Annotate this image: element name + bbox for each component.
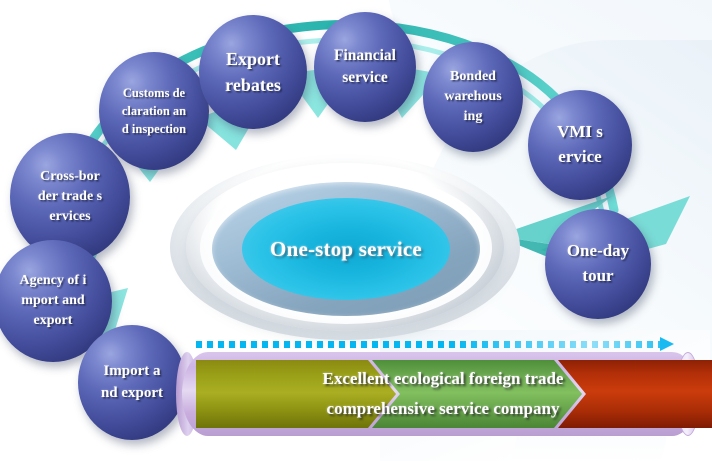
node-label-line: Financial	[334, 45, 396, 67]
node-label-line: service	[342, 67, 388, 89]
node-label-line: Cross-bor	[40, 167, 100, 187]
node-bonded-warehousing[interactable]: Bonded warehous ing	[423, 42, 523, 152]
olive-chevron	[196, 360, 396, 428]
green-chevron	[372, 360, 582, 428]
node-label-line: claration an	[122, 102, 186, 120]
banner-chevrons	[196, 360, 690, 428]
node-financial-service[interactable]: Financial service	[314, 12, 416, 122]
node-label-line: VMI s	[557, 120, 603, 145]
node-label-line: Bonded	[450, 67, 496, 87]
diagram-canvas: One-stop service Cross-bor der trade s e…	[0, 0, 712, 461]
node-label-line: Import a	[103, 361, 160, 383]
node-label-line: mport and	[21, 291, 84, 311]
node-label-line: rebates	[225, 72, 281, 98]
node-label-line: warehous	[444, 87, 501, 107]
node-label-line: Agency of i	[20, 271, 87, 291]
node-label-line: ervice	[558, 145, 601, 170]
node-label-line: tour	[582, 264, 613, 289]
node-export-rebates[interactable]: Export rebates	[199, 15, 307, 129]
node-label-line: Export	[226, 46, 280, 72]
node-label-line: ervices	[49, 207, 90, 227]
dotted-progress-arrow-fade	[196, 341, 664, 348]
node-label-line: One-day	[567, 239, 629, 264]
center-label: One-stop service	[242, 198, 450, 300]
node-vmi-service[interactable]: VMI s ervice	[528, 90, 632, 200]
node-import-and-export[interactable]: Import a nd export	[78, 325, 186, 440]
node-label-line: d inspection	[122, 120, 186, 138]
node-label-line: Customs de	[123, 84, 185, 102]
node-label-line: nd export	[101, 383, 163, 405]
progress-arrow-head-icon	[660, 337, 674, 351]
node-label-line: export	[34, 311, 73, 331]
node-label-line: ing	[464, 107, 483, 127]
node-one-day-tour[interactable]: One-day tour	[545, 209, 651, 319]
node-customs-declaration-and-inspection[interactable]: Customs de claration an d inspection	[99, 52, 209, 170]
node-label-line: der trade s	[38, 187, 102, 207]
